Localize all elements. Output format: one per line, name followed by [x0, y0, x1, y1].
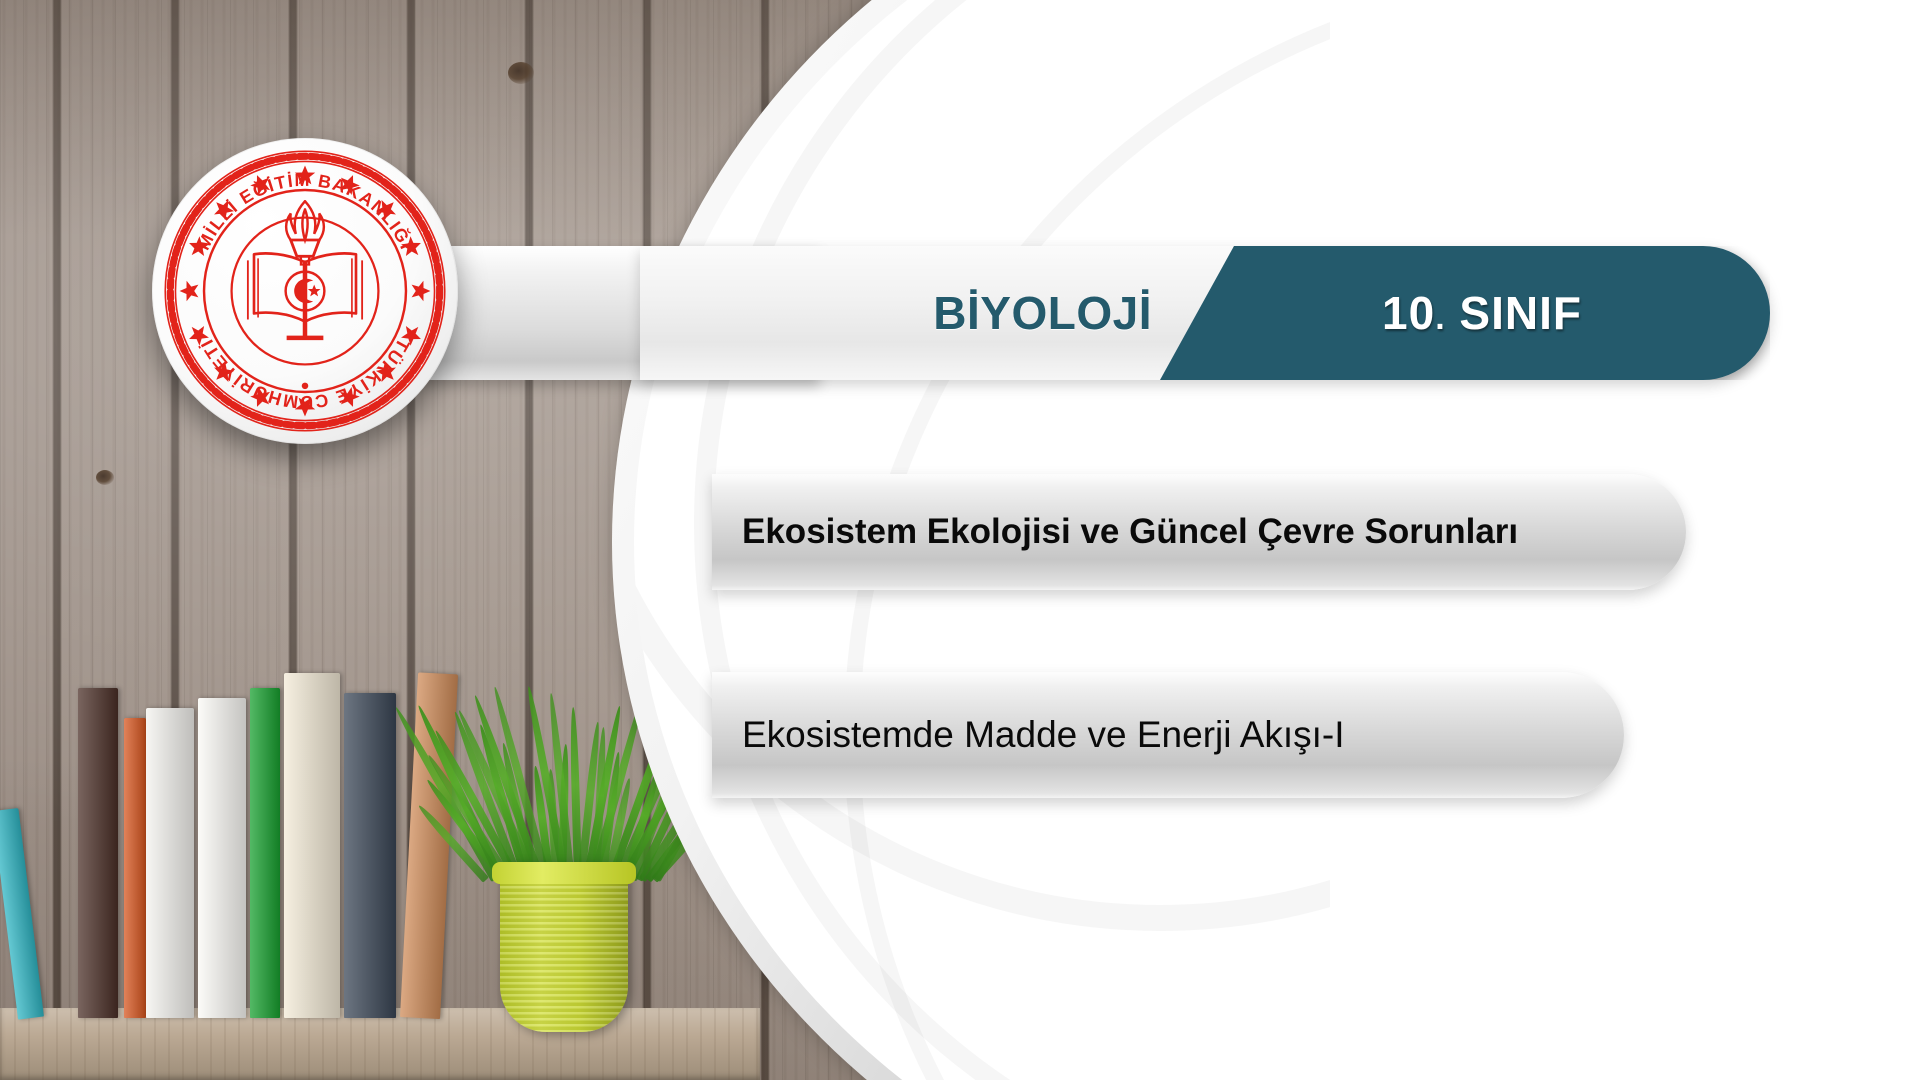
flame-icon [286, 201, 324, 240]
lesson-title-bar[interactable]: Ekosistemde Madde ve Enerji Akışı-I [712, 672, 1624, 798]
orange-spiral-book [124, 718, 146, 1018]
grade-dot: . [1435, 299, 1445, 337]
pot-ribbing-texture [500, 862, 628, 1032]
flower-pot [500, 862, 628, 1032]
grade-word: SINIF [1459, 287, 1582, 339]
cream-red-book [284, 673, 340, 1018]
emblem-separator-dot [302, 383, 309, 390]
green-book [250, 688, 280, 1018]
white-thick-book [198, 698, 246, 1018]
navy-book [344, 693, 396, 1018]
subject-title: BİYOLOJİ [640, 246, 1230, 380]
shelf-board [0, 1008, 760, 1080]
grade-number: 10 [1382, 287, 1435, 339]
wood-knot-icon [96, 470, 114, 485]
pot-rim [492, 862, 636, 884]
crescent-star-icon [308, 285, 321, 297]
unit-title-bar[interactable]: Ekosistem Ekolojisi ve Güncel Çevre Soru… [712, 474, 1686, 590]
lesson-title-label: Ekosistemde Madde ve Enerji Akışı-I [712, 714, 1345, 756]
white-spiral-notebook [146, 708, 194, 1018]
shelf-grain-texture [0, 1008, 760, 1080]
unit-title-label: Ekosistem Ekolojisi ve Güncel Çevre Soru… [712, 512, 1518, 552]
title-bar: BİYOLOJİ 10. SINIF [640, 246, 1770, 380]
wood-knot-icon [508, 62, 534, 84]
presentation-slide: BİYOLOJİ 10. SINIF Ekosistem Ekolojisi v… [0, 0, 1920, 1080]
emblem-star-icon [180, 281, 199, 301]
grade-badge[interactable]: 10. SINIF [1160, 246, 1770, 380]
dark-brown-book [78, 688, 118, 1018]
grade-badge-label: 10. SINIF [1348, 286, 1582, 340]
emblem-star-icon [412, 281, 431, 301]
meb-logo[interactable]: MİLLİ EĞİTİM BAKANLIĞI TÜRKİYE CUMHURİYE… [152, 138, 458, 444]
teal-notebook [0, 808, 44, 1020]
meb-logo-icon: MİLLİ EĞİTİM BAKANLIĞI TÜRKİYE CUMHURİYE… [152, 138, 458, 444]
